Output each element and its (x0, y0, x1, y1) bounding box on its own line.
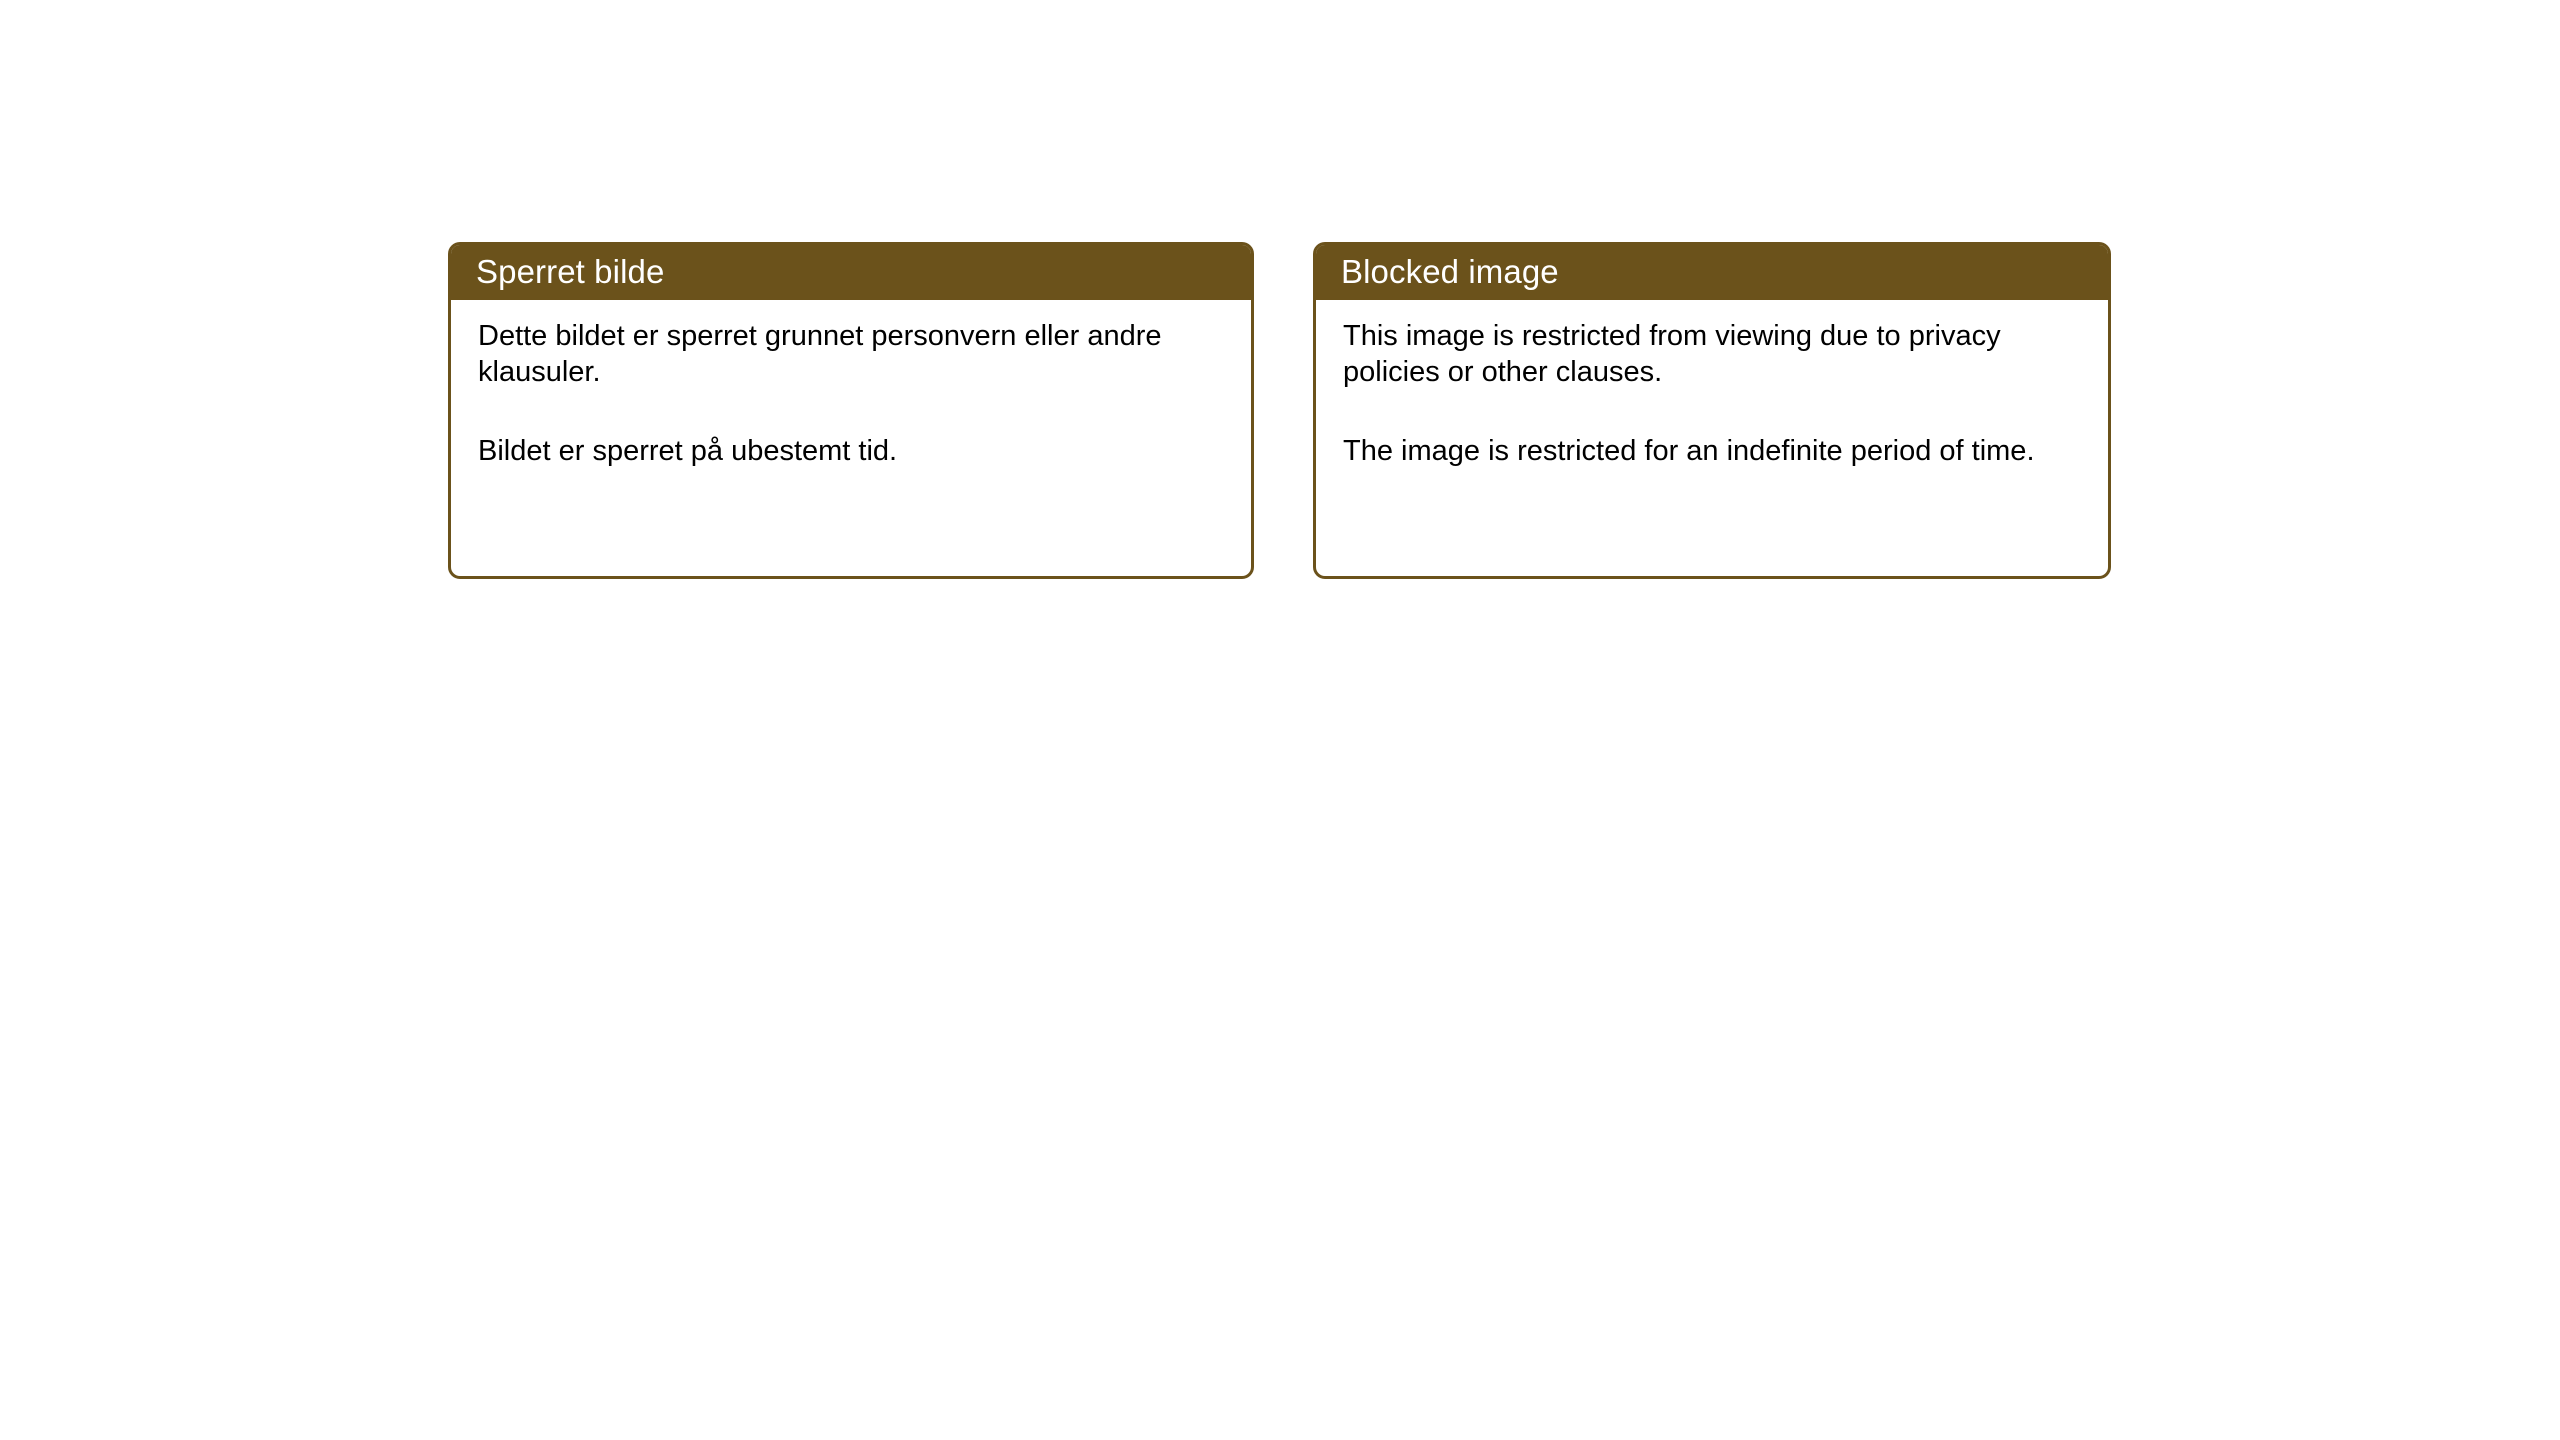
notice-paragraph-duration-no: Bildet er sperret på ubestemt tid. (478, 433, 1218, 469)
notice-body-no: Dette bildet er sperret grunnet personve… (451, 300, 1251, 469)
notice-paragraph-reason-en: This image is restricted from viewing du… (1343, 318, 2073, 390)
notice-paragraph-duration-en: The image is restricted for an indefinit… (1343, 433, 2073, 469)
notice-header-no: Sperret bilde (448, 242, 1254, 300)
notice-body-en: This image is restricted from viewing du… (1316, 300, 2108, 469)
notice-paragraph-reason-no: Dette bildet er sperret grunnet personve… (478, 318, 1218, 390)
notice-title-no: Sperret bilde (476, 255, 664, 288)
notice-header-en: Blocked image (1313, 242, 2111, 300)
notice-title-en: Blocked image (1341, 255, 1559, 288)
blocked-image-notice-card-no: Sperret bilde Dette bildet er sperret gr… (448, 242, 1254, 579)
page-canvas: Sperret bilde Dette bildet er sperret gr… (0, 0, 2560, 1440)
blocked-image-notice-card-en: Blocked image This image is restricted f… (1313, 242, 2111, 579)
